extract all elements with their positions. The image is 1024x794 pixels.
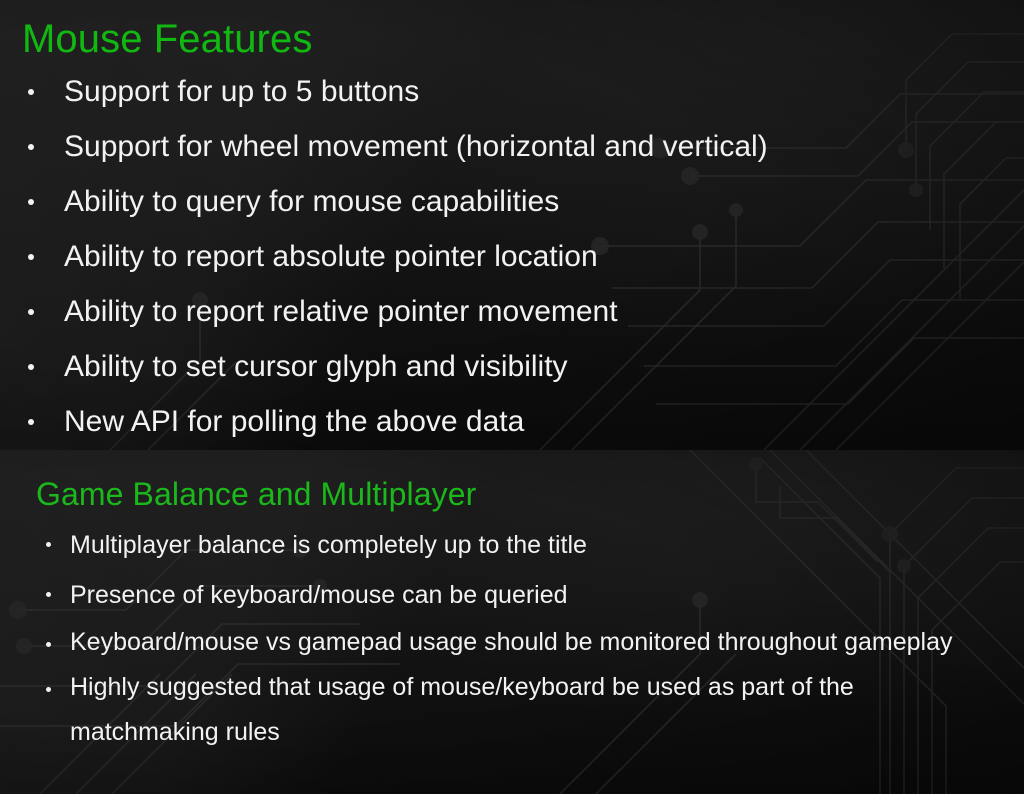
list-item: Ability to query for mouse capabilities bbox=[22, 174, 1024, 229]
list-item-label: Support for up to 5 buttons bbox=[64, 64, 1024, 119]
list-item: Presence of keyboard/mouse can be querie… bbox=[42, 570, 1024, 620]
bullet-dot-icon bbox=[28, 89, 34, 95]
list-item: Highly suggested that usage of mouse/key… bbox=[42, 665, 1024, 755]
list-item-label: Highly suggested that usage of mouse/key… bbox=[70, 665, 984, 755]
bullet-dot-icon bbox=[28, 254, 34, 260]
bullet-dot-icon bbox=[28, 364, 34, 370]
bullet-list-game-balance: Multiplayer balance is completely up to … bbox=[0, 520, 1024, 755]
list-item: New API for polling the above data bbox=[22, 394, 1024, 449]
bullet-dot-icon bbox=[28, 419, 34, 425]
bullet-dot-icon bbox=[28, 144, 34, 150]
list-item-label: Support for wheel movement (horizontal a… bbox=[64, 119, 1024, 174]
page-title: Game Balance and Multiplayer bbox=[36, 474, 1024, 514]
list-item-label: New API for polling the above data bbox=[64, 394, 1024, 449]
list-item: Keyboard/mouse vs gamepad usage should b… bbox=[42, 620, 1024, 665]
bullet-dot-icon bbox=[46, 642, 51, 647]
bullet-list-mouse-features: Support for up to 5 buttons Support for … bbox=[0, 64, 1024, 449]
list-item-label: Keyboard/mouse vs gamepad usage should b… bbox=[70, 620, 984, 665]
slide-mouse-features: Mouse Features Support for up to 5 butto… bbox=[0, 0, 1024, 450]
bullet-dot-icon bbox=[46, 592, 51, 597]
bullet-dot-icon bbox=[28, 309, 34, 315]
bullet-dot-icon bbox=[46, 542, 51, 547]
list-item-label: Multiplayer balance is completely up to … bbox=[70, 520, 984, 570]
list-item-label: Ability to query for mouse capabilities bbox=[64, 174, 1024, 229]
list-item: Support for up to 5 buttons bbox=[22, 64, 1024, 119]
page-title: Mouse Features bbox=[22, 16, 1024, 62]
bullet-dot-icon bbox=[28, 199, 34, 205]
list-item: Ability to report absolute pointer locat… bbox=[22, 229, 1024, 284]
slide-deck-stage: Mouse Features Support for up to 5 butto… bbox=[0, 0, 1024, 794]
list-item-label: Ability to report relative pointer movem… bbox=[64, 284, 1024, 339]
list-item-label: Ability to set cursor glyph and visibili… bbox=[64, 339, 1024, 394]
slide-game-balance-and-multiplayer: Game Balance and Multiplayer Multiplayer… bbox=[0, 450, 1024, 794]
list-item: Multiplayer balance is completely up to … bbox=[42, 520, 1024, 570]
list-item-label: Ability to report absolute pointer locat… bbox=[64, 229, 1024, 284]
list-item: Support for wheel movement (horizontal a… bbox=[22, 119, 1024, 174]
list-item: Ability to set cursor glyph and visibili… bbox=[22, 339, 1024, 394]
list-item: Ability to report relative pointer movem… bbox=[22, 284, 1024, 339]
bullet-dot-icon bbox=[46, 687, 51, 692]
list-item-label: Presence of keyboard/mouse can be querie… bbox=[70, 570, 984, 620]
